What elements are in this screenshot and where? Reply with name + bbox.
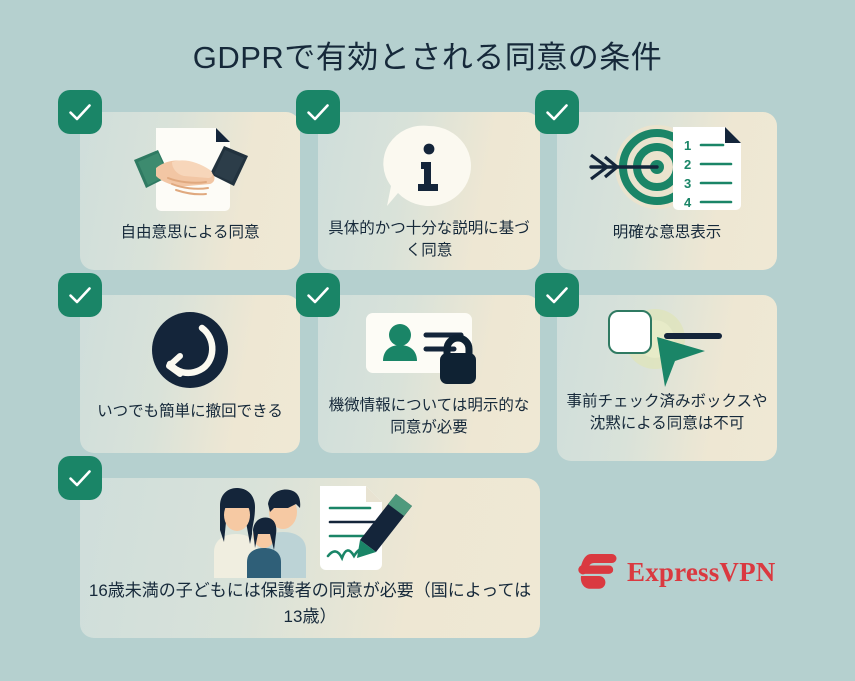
card-clear-affirmative-action: 1 2 3 4 明確な意思表示 — [557, 112, 777, 270]
expressvpn-logo: ExpressVPN — [578, 551, 776, 594]
undo-arrow-icon — [80, 303, 300, 397]
list-number: 4 — [684, 195, 692, 210]
card-sensitive-data: 機微情報については明示的な同意が必要 — [318, 295, 540, 453]
checkbox-cursor-icon — [557, 303, 777, 389]
check-badge — [535, 90, 579, 134]
id-card-lock-icon — [318, 309, 540, 389]
expressvpn-logo-mark — [578, 551, 618, 594]
expressvpn-logo-text: ExpressVPN — [627, 559, 776, 586]
card-informed-consent: 具体的かつ十分な説明に基づく同意 — [318, 112, 540, 270]
list-number: 3 — [684, 176, 691, 191]
page-title: GDPRで有効とされる同意の条件 — [0, 32, 855, 77]
infographic-page: GDPRで有効とされる同意の条件 — [0, 0, 855, 681]
list-number: 2 — [684, 157, 691, 172]
card-caption: 事前チェック済みボックスや沈黙による同意は不可 — [565, 391, 769, 435]
card-withdrawable: いつでも簡単に撤回できる — [80, 295, 300, 453]
check-badge — [58, 273, 102, 317]
card-no-prechecked-boxes: 事前チェック済みボックスや沈黙による同意は不可 — [557, 295, 777, 461]
card-caption: 具体的かつ十分な説明に基づく同意 — [326, 218, 532, 262]
card-caption: 自由意思による同意 — [88, 222, 292, 244]
card-caption: 機微情報については明示的な同意が必要 — [326, 395, 532, 439]
check-badge — [58, 90, 102, 134]
family-signature-icon — [80, 482, 540, 578]
check-badge — [296, 273, 340, 317]
card-caption: 明確な意思表示 — [565, 222, 769, 244]
target-arrow-checklist-icon: 1 2 3 4 — [557, 118, 777, 218]
list-number: 1 — [684, 138, 691, 153]
card-caption: 16歳未満の子どもには保護者の同意が必要（国によっては13歳） — [88, 578, 532, 629]
card-minors-guardian-consent: 16歳未満の子どもには保護者の同意が必要（国によっては13歳） — [80, 478, 540, 638]
card-free-consent: 自由意思による同意 — [80, 112, 300, 270]
card-caption: いつでも簡単に撤回できる — [88, 401, 292, 423]
info-speech-bubble-icon — [318, 120, 540, 216]
check-badge — [296, 90, 340, 134]
check-badge — [58, 456, 102, 500]
check-badge — [535, 273, 579, 317]
handshake-icon — [80, 118, 300, 220]
